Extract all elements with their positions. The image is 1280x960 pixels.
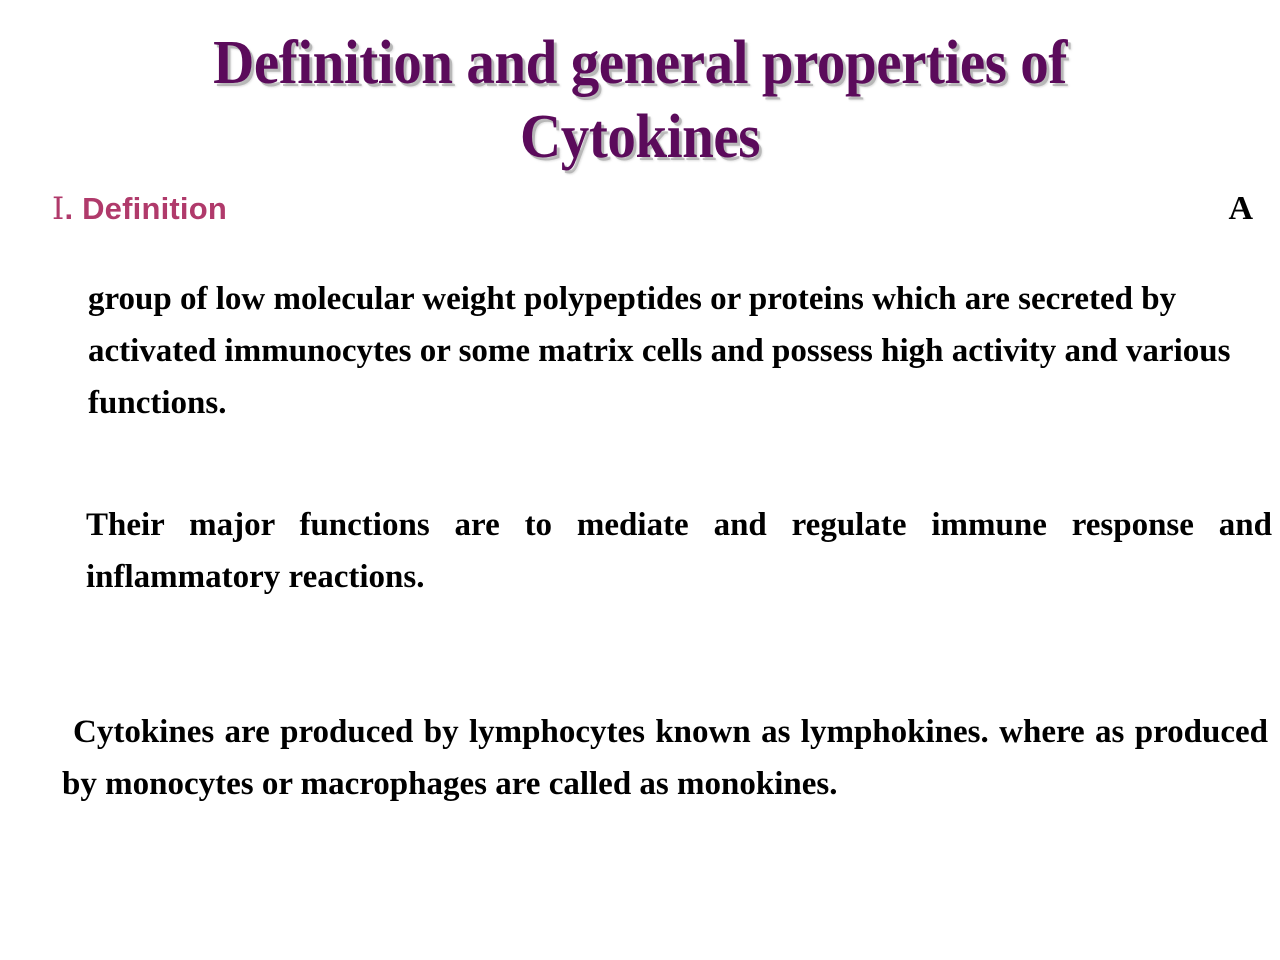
- slide-title-line-1: Definition and general properties of: [51, 26, 1229, 100]
- slide-title: Definition and general properties of Cyt…: [0, 26, 1280, 174]
- section-numeral: Ⅰ: [52, 191, 64, 226]
- slide-title-line-2: Cytokines: [51, 100, 1229, 174]
- slide-canvas: Definition and general properties of Cyt…: [0, 0, 1280, 960]
- section-heading-label: . Definition: [64, 191, 227, 226]
- section-heading-row: Ⅰ. Definition A: [0, 188, 1280, 234]
- paragraph-definition: group of low molecular weight polypeptid…: [88, 273, 1258, 429]
- paragraph-origin: Cytokines are produced by lymphocytes kn…: [62, 706, 1268, 810]
- paragraph-functions: Their major functions are to mediate and…: [86, 499, 1272, 603]
- definition-leading-article: A: [1228, 188, 1253, 230]
- section-heading: Ⅰ. Definition: [52, 188, 227, 230]
